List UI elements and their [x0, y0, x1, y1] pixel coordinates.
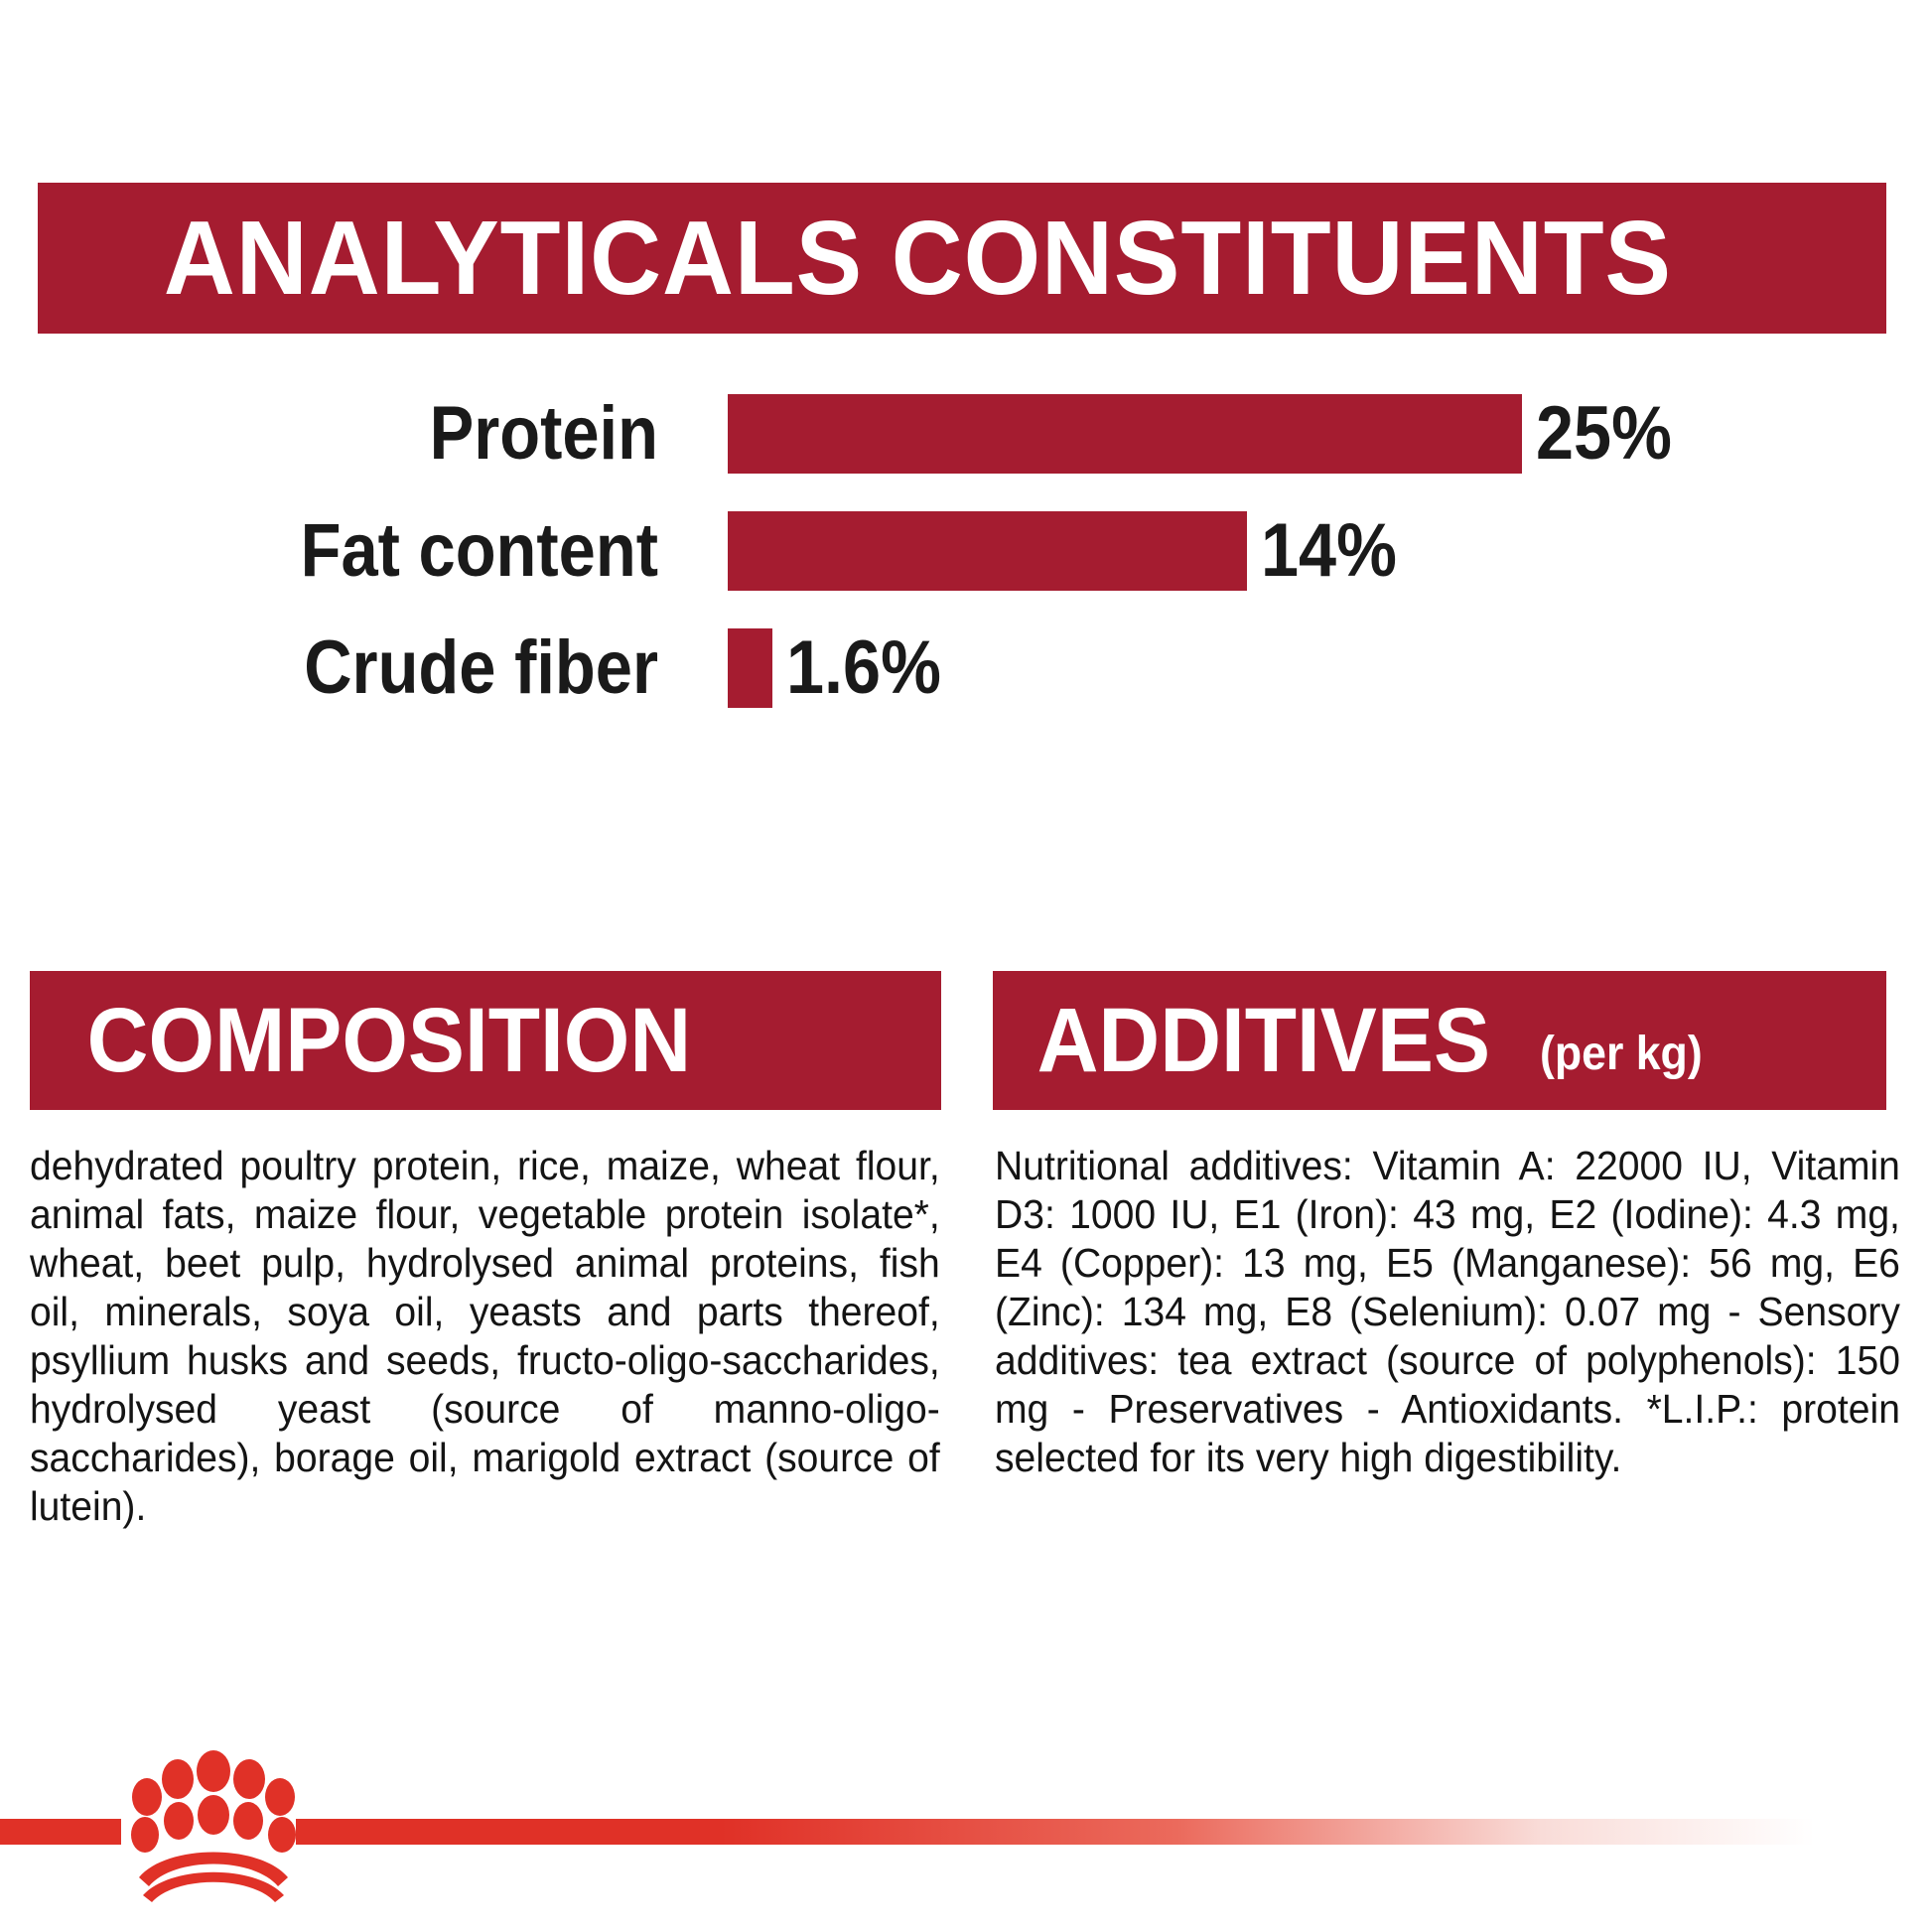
- bar-value-protein: 25%: [1536, 396, 1672, 472]
- bar-label-crude-fiber: Crude fiber: [79, 630, 658, 706]
- bar-fat-content: [728, 511, 1247, 591]
- footer-rule-left: [0, 1819, 121, 1845]
- additives-heading: ADDITIVES: [993, 995, 1490, 1086]
- bar-group-protein: 25%: [728, 394, 1687, 474]
- analyticals-constituents-banner: ANALYTICALS CONSTITUENTS: [38, 183, 1886, 334]
- analyticals-bar-chart: Protein 25% Fat content 14% Crude fiber …: [0, 382, 1932, 740]
- bar-protein: [728, 394, 1522, 474]
- royal-canin-crown-paw-logo: [119, 1745, 308, 1904]
- bar-value-crude-fiber: 1.6%: [786, 630, 941, 706]
- bar-group-fat-content: 14%: [728, 511, 1412, 591]
- bar-label-fat-content: Fat content: [79, 513, 658, 589]
- additives-banner: ADDITIVES (per kg): [993, 971, 1886, 1110]
- footer-rule-right: [296, 1819, 1815, 1845]
- composition-text: dehydrated poultry protein, rice, maize,…: [30, 1142, 940, 1531]
- composition-banner: COMPOSITION: [30, 971, 941, 1110]
- additives-text: Nutritional additives: Vitamin A: 22000 …: [995, 1142, 1900, 1482]
- analyticals-constituents-title: ANALYTICALS CONSTITUENTS: [38, 206, 1672, 311]
- chart-row: Fat content 14%: [0, 499, 1932, 603]
- footer: [0, 1727, 1932, 1932]
- composition-heading: COMPOSITION: [30, 995, 691, 1086]
- bar-value-fat-content: 14%: [1261, 513, 1397, 589]
- chart-row: Protein 25%: [0, 382, 1932, 485]
- bar-group-crude-fiber: 1.6%: [728, 628, 958, 708]
- bar-label-protein: Protein: [79, 396, 658, 472]
- bar-crude-fiber: [728, 628, 772, 708]
- chart-row: Crude fiber 1.6%: [0, 617, 1932, 720]
- additives-subheading: (per kg): [1540, 1031, 1703, 1078]
